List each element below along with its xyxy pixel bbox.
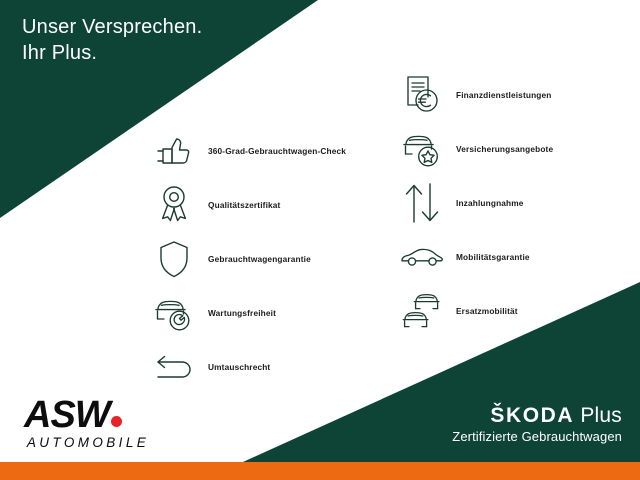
award-rosette-icon (148, 181, 200, 229)
list-item: 360-Grad-Gebrauchtwagen-Check (148, 124, 346, 178)
feature-list-left: 360-Grad-Gebrauchtwagen-Check Qualitätsz… (148, 124, 346, 394)
two-cars-icon (396, 287, 448, 335)
car-wrench-icon (148, 289, 200, 337)
list-item-label: Qualitätszertifikat (208, 200, 280, 210)
list-item-label: Mobilitätsgarantie (456, 252, 530, 262)
brand-lockup: ŠKODA Plus Zertifizierte Gebrauchtwagen (452, 404, 622, 445)
list-item-label: Umtauschrecht (208, 362, 270, 372)
list-item-label: Gebrauchtwagengarantie (208, 254, 311, 264)
page-title: Unser Versprechen.Ihr Plus. (22, 14, 202, 66)
brand-plus-label: Plus (580, 404, 622, 427)
car-star-icon (396, 125, 448, 173)
list-item-label: Finanzdienstleistungen (456, 90, 552, 100)
brand-name-line: ŠKODA Plus (452, 404, 622, 428)
brand-mark: ŠKODA (490, 404, 574, 427)
list-item-label: Wartungsfreiheit (208, 308, 276, 318)
return-arrow-icon (148, 343, 200, 391)
promo-banner: Unser Versprechen.Ihr Plus. 360-Grad-Geb… (0, 0, 640, 480)
document-euro-icon (396, 71, 448, 119)
list-item-label: Inzahlungnahme (456, 198, 524, 208)
car-side-icon (396, 233, 448, 281)
headline-line-1: Unser Versprechen. (22, 16, 202, 38)
dealer-logo-dot (111, 416, 122, 427)
list-item: Umtauschrecht (148, 340, 346, 394)
list-item: Ersatzmobilität (396, 284, 553, 338)
brand-tagline: Zertifizierte Gebrauchtwagen (452, 429, 622, 445)
list-item-label: Versicherungsangebote (456, 144, 553, 154)
list-item: Inzahlungnahme (396, 176, 553, 230)
list-item-label: Ersatzmobilität (456, 306, 518, 316)
up-down-arrows-icon (396, 179, 448, 227)
list-item: Wartungsfreiheit (148, 286, 346, 340)
orange-accent-bar (0, 462, 640, 480)
dealer-logo: ASW AUTOMOBILE (24, 396, 154, 450)
list-item-label: 360-Grad-Gebrauchtwagen-Check (208, 146, 346, 156)
list-item: Versicherungsangebote (396, 122, 553, 176)
thumbs-up-icon (148, 127, 200, 175)
shield-icon (148, 235, 200, 283)
list-item: Qualitätszertifikat (148, 178, 346, 232)
feature-list-right: Finanzdienstleistungen Versicherungsange… (396, 68, 553, 338)
list-item: Mobilitätsgarantie (396, 230, 553, 284)
headline-line-2: Ihr Plus. (22, 42, 97, 64)
dealer-subtitle: AUTOMOBILE (24, 435, 152, 450)
list-item: Gebrauchtwagengarantie (148, 232, 346, 286)
list-item: Finanzdienstleistungen (396, 68, 553, 122)
dealer-wordmark-text: ASW (24, 394, 110, 436)
dealer-wordmark: ASW (24, 396, 154, 434)
